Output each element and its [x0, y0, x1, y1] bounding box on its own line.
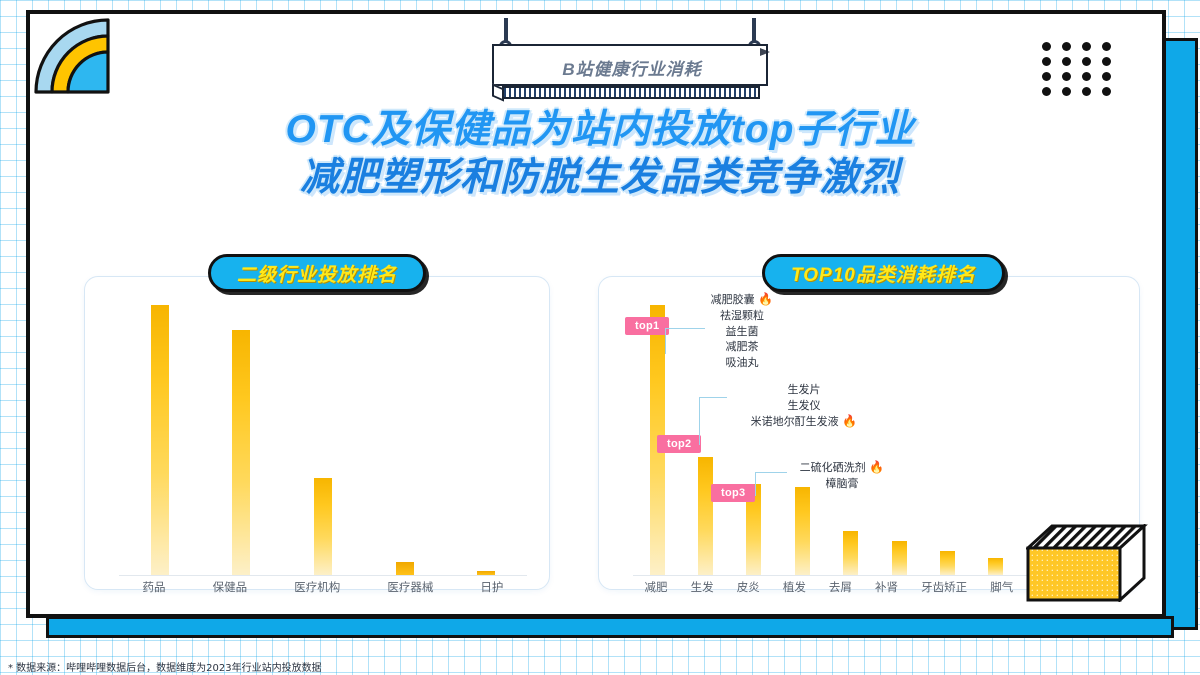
callout-item: 生发片 — [709, 382, 899, 398]
bar-slot — [477, 291, 495, 575]
bar-slot — [940, 291, 955, 575]
callout-item: 生发仪 — [709, 398, 899, 414]
hanging-signboard: B站健康行业消耗 — [482, 18, 778, 104]
slide-root: B站健康行业消耗 OTC及保健品为站内投放top子行业 减肥塑形和防脱生发品类竞… — [0, 0, 1200, 675]
bar-slot — [232, 291, 250, 575]
x-label-日护: 日护 — [480, 579, 503, 603]
bar-医疗器械[interactable] — [396, 562, 414, 575]
bar-植发[interactable] — [795, 487, 810, 575]
flame-icon: 🔥 — [755, 292, 774, 306]
x-label-医疗机构: 医疗机构 — [294, 579, 340, 603]
panel-secondary-industry: 药品保健品医疗机构医疗器械日护 — [84, 276, 550, 590]
x-axis-line-left — [119, 575, 527, 576]
cube-icon — [1026, 524, 1148, 602]
source-footnote: * 数据来源：哔哩哔哩数据后台，数据维度为2023年行业站内投放数据 — [8, 659, 322, 674]
signboard-plate: B站健康行业消耗 — [492, 44, 768, 86]
callout-item: 樟脑膏 — [767, 476, 917, 492]
x-label-减肥: 减肥 — [645, 579, 668, 603]
bar-group-left — [119, 291, 527, 575]
bar-slot — [396, 291, 414, 575]
panel-title-right: TOP10品类消耗排名 — [762, 254, 1005, 292]
x-label-保健品: 保健品 — [213, 579, 248, 603]
bar-去屑[interactable] — [843, 531, 858, 575]
title-line-2: 减肥塑形和防脱生发品类竞争激烈 — [30, 154, 1170, 202]
bar-保健品[interactable] — [232, 330, 250, 575]
callout-item: 减肥胶囊 🔥 — [677, 291, 807, 308]
content-card: B站健康行业消耗 OTC及保健品为站内投放top子行业 减肥塑形和防脱生发品类竞… — [26, 10, 1166, 618]
callout-tag-top1: top1 — [625, 317, 669, 335]
x-label-牙齿矫正: 牙齿矫正 — [921, 579, 967, 603]
bar-脚气[interactable] — [988, 558, 1003, 575]
panel-title-left: 二级行业投放排名 — [208, 254, 426, 292]
x-label-去屑: 去屑 — [829, 579, 852, 603]
callout-items-top3: 二硫化硒洗剂 🔥樟脑膏 — [767, 459, 917, 492]
callout-item: 吸油丸 — [677, 355, 807, 371]
x-label-脚气: 脚气 — [990, 579, 1013, 603]
bar-牙齿矫正[interactable] — [940, 551, 955, 575]
arc-logo-icon — [26, 10, 112, 96]
signboard-label: B站健康行业消耗 — [494, 46, 770, 88]
title-line-1: OTC及保健品为站内投放top子行业 — [30, 106, 1170, 154]
chart-secondary-industry: 药品保健品医疗机构医疗器械日护 — [85, 277, 549, 589]
callout-tag-top3: top3 — [711, 484, 755, 502]
bar-补肾[interactable] — [892, 541, 907, 575]
bar-生发[interactable] — [698, 457, 713, 575]
x-label-医疗器械: 医疗器械 — [387, 579, 433, 603]
x-label-皮炎: 皮炎 — [737, 579, 760, 603]
callout-item: 减肥茶 — [677, 339, 807, 355]
callout-tag-top2: top2 — [657, 435, 701, 453]
bar-slot — [314, 291, 332, 575]
bar-药品[interactable] — [151, 305, 169, 575]
dot-grid-icon — [1042, 42, 1116, 96]
bar-slot — [892, 291, 907, 575]
callout-items-top1: 减肥胶囊 🔥祛湿颗粒益生菌减肥茶吸油丸 — [677, 291, 807, 370]
callout-item: 益生菌 — [677, 324, 807, 340]
signboard-strip — [502, 86, 760, 99]
x-label-植发: 植发 — [783, 579, 806, 603]
bar-slot — [843, 291, 858, 575]
x-label-药品: 药品 — [143, 579, 166, 603]
callout-item: 米诺地尔酊生发液 🔥 — [709, 413, 899, 430]
flame-icon: 🔥 — [866, 460, 885, 474]
flame-icon: 🔥 — [839, 414, 858, 428]
accent-bar-bottom — [46, 616, 1174, 638]
bar-slot — [988, 291, 1003, 575]
page-title: OTC及保健品为站内投放top子行业 减肥塑形和防脱生发品类竞争激烈 — [30, 106, 1170, 202]
x-label-生发: 生发 — [691, 579, 714, 603]
signboard-side — [760, 48, 770, 56]
bar-日护[interactable] — [477, 571, 495, 575]
x-label-补肾: 补肾 — [875, 579, 898, 603]
callout-item: 祛湿颗粒 — [677, 308, 807, 324]
callout-item: 二硫化硒洗剂 🔥 — [767, 459, 917, 476]
callout-items-top2: 生发片生发仪米诺地尔酊生发液 🔥 — [709, 382, 899, 430]
bar-医疗机构[interactable] — [314, 478, 332, 575]
bar-slot — [151, 291, 169, 575]
x-axis-labels-left: 药品保健品医疗机构医疗器械日护 — [119, 579, 527, 603]
